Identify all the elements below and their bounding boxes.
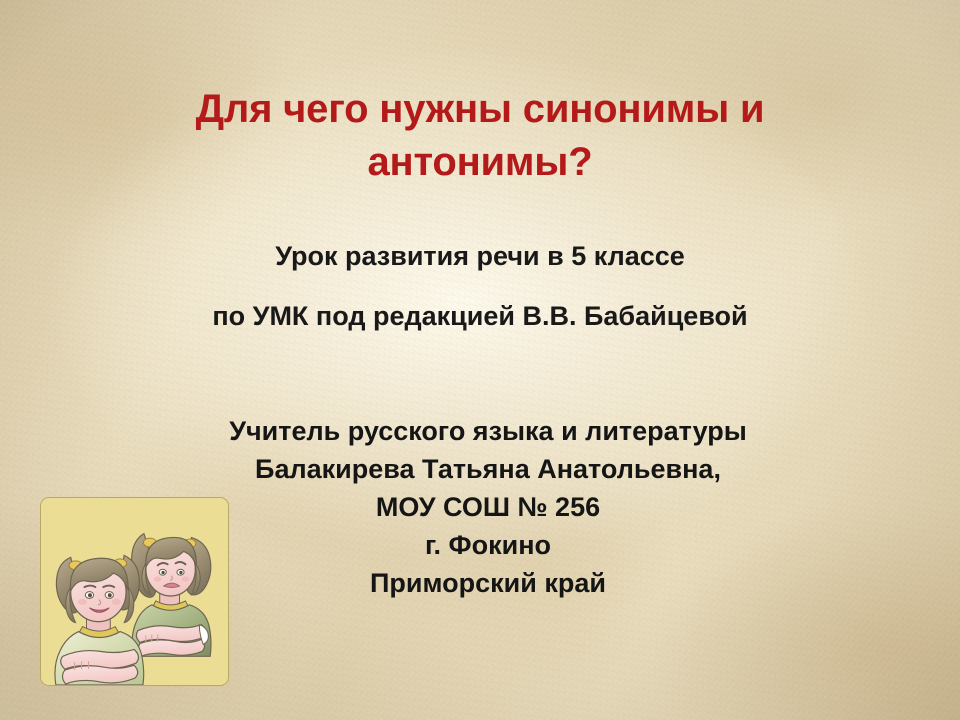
author-line-city: г. Фокино	[130, 526, 846, 564]
subtitle-line-2: по УМК под редакцией В.В. Бабайцевой	[100, 299, 860, 333]
author-line-region: Приморский край	[130, 564, 846, 602]
slide-title: Для чего нужны синонимы и антонимы?	[120, 83, 840, 189]
title-line-1: Для чего нужны синонимы и	[120, 83, 840, 136]
two-girls-happy-and-sad-illustration	[40, 497, 229, 686]
author-line-teacher-name: Балакирева Татьяна Анатольевна,	[130, 450, 846, 488]
slide-subtitle: Урок развития речи в 5 классе по УМК под…	[100, 239, 860, 333]
author-line-school: МОУ СОШ № 256	[130, 488, 846, 526]
subtitle-line-1: Урок развития речи в 5 классе	[100, 239, 860, 273]
author-credits: Учитель русского языка и литературы Бала…	[130, 412, 846, 602]
title-line-2: антонимы?	[120, 136, 840, 189]
presentation-slide: Для чего нужны синонимы и антонимы? Урок…	[0, 0, 960, 720]
illustration-artwork	[41, 498, 228, 685]
author-line-teacher-role: Учитель русского языка и литературы	[130, 412, 846, 450]
